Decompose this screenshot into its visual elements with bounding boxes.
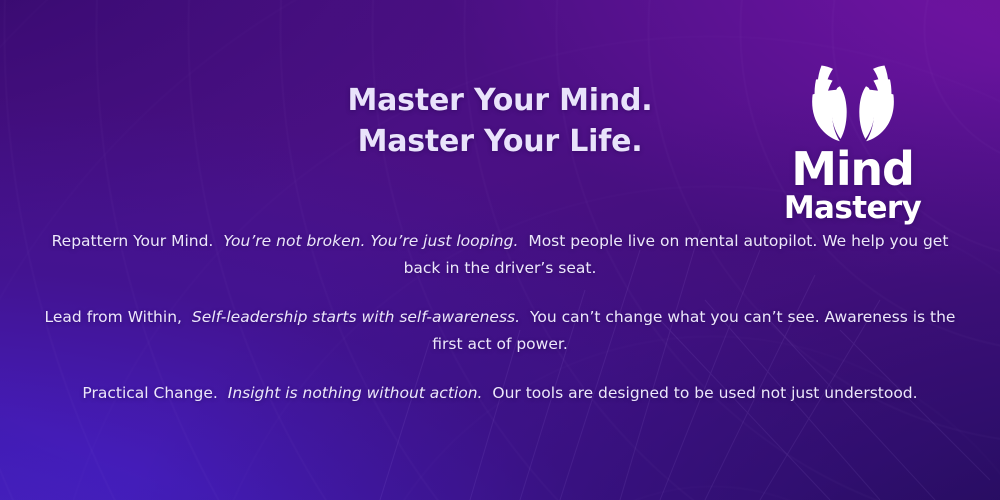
body-copy: Repattern Your Mind. You’re not broken. …: [44, 228, 956, 407]
paragraph-lead: Lead from Within,: [45, 308, 182, 326]
paragraph-lead: Practical Change.: [82, 384, 217, 402]
value-paragraph-repattern: Repattern Your Mind. You’re not broken. …: [44, 228, 956, 282]
paragraph-rest: Our tools are designed to be used not ju…: [492, 384, 917, 402]
paragraph-lead: Repattern Your Mind.: [52, 232, 214, 250]
value-paragraph-practical-change: Practical Change. Insight is nothing wit…: [44, 380, 956, 407]
paragraph-emphasis: You’re not broken. You’re just looping.: [223, 232, 518, 250]
mind-mastery-banner: Master Your Mind. Master Your Life.: [0, 0, 1000, 500]
brand-wordmark-line-2: Mastery: [775, 193, 930, 224]
paragraph-emphasis: Insight is nothing without action.: [228, 384, 483, 402]
brand-wordmark: Mind Mastery: [775, 146, 930, 224]
brand-wordmark-line-1: Mind: [775, 146, 930, 192]
banner-content: Master Your Mind. Master Your Life.: [0, 0, 1000, 500]
paragraph-emphasis: Self-leadership starts with self-awarene…: [192, 308, 520, 326]
brand-logo[interactable]: Mind Mastery: [775, 55, 930, 230]
mind-mastery-wings-icon: [797, 55, 909, 143]
value-paragraph-lead-from-within: Lead from Within, Self-leadership starts…: [44, 304, 956, 358]
